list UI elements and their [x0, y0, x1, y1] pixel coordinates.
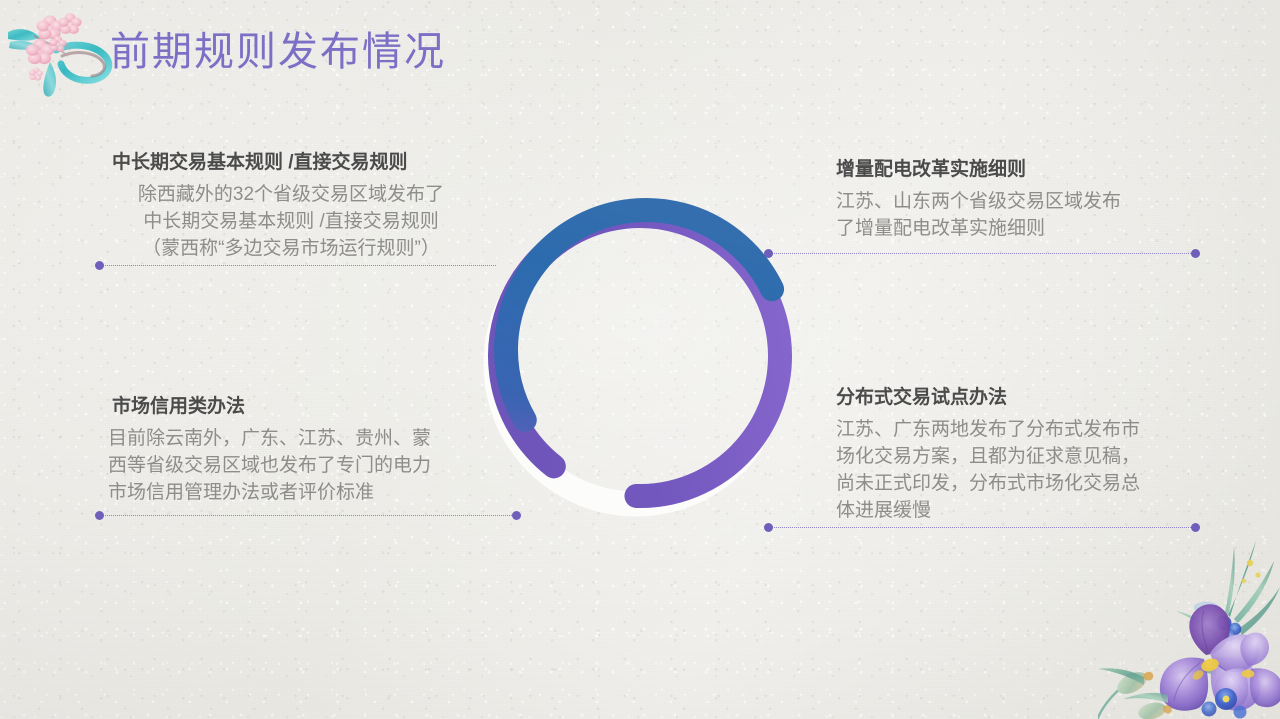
- block-body: 除西藏外的32个省级交易区域发布了 中长期交易基本规则 /直接交易规则 （蒙西称…: [86, 181, 496, 262]
- info-block-bottom-right: 分布式交易试点办法 江苏、广东两地发布了分布式发布市 场化交易方案，且都为征求意…: [836, 385, 1216, 524]
- dotted-line: [765, 253, 1199, 255]
- block-body-line: 尚未正式印发，分布式市场化交易总: [836, 470, 1216, 497]
- block-body-line: 场化交易方案，且都为征求意见稿，: [836, 443, 1216, 470]
- block-heading: 增量配电改革实施细则: [836, 157, 1216, 183]
- block-heading: 中长期交易基本规则 /直接交易规则: [86, 150, 496, 176]
- connector-dot: [1191, 249, 1200, 258]
- block-body-line: 体进展缓慢: [836, 497, 1216, 524]
- info-block-top-left: 中长期交易基本规则 /直接交易规则 除西藏外的32个省级交易区域发布了 中长期交…: [86, 150, 496, 262]
- circular-ring-graphic: [460, 178, 820, 534]
- connector-line-bottom-left: [96, 511, 520, 520]
- dotted-line: [96, 515, 520, 517]
- connector-dot: [95, 511, 104, 520]
- block-body: 目前除云南外，广东、江苏、贵州、蒙 西等省级交易区域也发布了专门的电力 市场信用…: [86, 425, 496, 506]
- block-body-line: 江苏、山东两个省级交易区域发布: [836, 188, 1216, 215]
- connector-line-bottom-right: [765, 523, 1199, 532]
- block-body-line: 江苏、广东两地发布了分布式发布市: [836, 416, 1216, 443]
- title-bar: 前期规则发布情况: [0, 0, 1280, 108]
- block-body-line: 市场信用管理办法或者评价标准: [108, 479, 496, 506]
- dotted-line: [96, 265, 496, 267]
- block-body-line: 除西藏外的32个省级交易区域发布了: [86, 181, 496, 208]
- block-body-line: （蒙西称“多边交易市场运行规则”）: [86, 235, 496, 262]
- info-block-top-right: 增量配电改革实施细则 江苏、山东两个省级交易区域发布 了增量配电改革实施细则: [836, 157, 1216, 242]
- block-body: 江苏、广东两地发布了分布式发布市 场化交易方案，且都为征求意见稿， 尚未正式印发…: [836, 416, 1216, 524]
- slide-canvas: 前期规则发布情况: [0, 0, 1280, 719]
- block-heading: 分布式交易试点办法: [836, 385, 1216, 411]
- block-body-line: 了增量配电改革实施细则: [836, 215, 1216, 242]
- block-body: 江苏、山东两个省级交易区域发布 了增量配电改革实施细则: [836, 188, 1216, 242]
- ring-arc-blue: [460, 178, 820, 534]
- connector-dot: [512, 511, 521, 520]
- connector-dot: [764, 523, 773, 532]
- connector-line-top-right: [765, 249, 1199, 258]
- connector-dot: [95, 261, 104, 270]
- dotted-line: [765, 527, 1199, 529]
- block-body-line: 中长期交易基本规则 /直接交易规则: [86, 208, 496, 235]
- connector-dot: [1191, 523, 1200, 532]
- info-block-bottom-left: 市场信用类办法 目前除云南外，广东、江苏、贵州、蒙 西等省级交易区域也发布了专门…: [86, 394, 496, 506]
- block-body-line: 目前除云南外，广东、江苏、贵州、蒙: [108, 425, 496, 452]
- block-heading: 市场信用类办法: [86, 394, 496, 420]
- connector-line-top-left: [96, 261, 496, 270]
- block-body-line: 西等省级交易区域也发布了专门的电力: [108, 452, 496, 479]
- connector-dot: [764, 249, 773, 258]
- page-title: 前期规则发布情况: [110, 26, 446, 78]
